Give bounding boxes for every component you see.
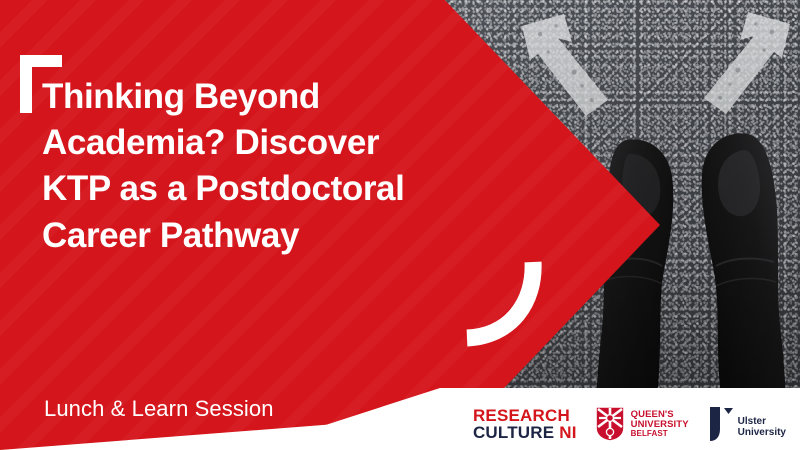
queens-wordmark: QUEEN'S UNIVERSITY BELFAST xyxy=(631,410,689,439)
rcni-line1: RESEARCH xyxy=(473,407,577,424)
ulster-wordmark: Ulster University xyxy=(738,417,786,443)
partner-logo-row: RESEARCH CULTURE NI QUEEN'S UNIVERS xyxy=(473,405,786,443)
queens-line3: BELFAST xyxy=(631,430,689,438)
queens-crest-icon xyxy=(595,406,625,442)
research-culture-ni-logo[interactable]: RESEARCH CULTURE NI xyxy=(473,407,577,441)
rcni-culture: CULTURE xyxy=(473,423,554,442)
session-type-label: Lunch & Learn Session xyxy=(44,396,274,422)
queens-university-belfast-logo[interactable]: QUEEN'S UNIVERSITY BELFAST xyxy=(595,406,689,442)
page-title: Thinking Beyond Academia? Discover KTP a… xyxy=(42,74,512,259)
curved-swoosh-icon xyxy=(455,258,555,350)
ulster-university-logo[interactable]: Ulster University xyxy=(707,405,786,443)
event-banner: Thinking Beyond Academia? Discover KTP a… xyxy=(0,0,800,450)
rcni-ni: NI xyxy=(554,423,576,442)
ulster-line2: University xyxy=(738,428,786,439)
rcni-line2: CULTURE NI xyxy=(473,424,577,441)
ulster-u-mark-icon xyxy=(707,405,733,443)
